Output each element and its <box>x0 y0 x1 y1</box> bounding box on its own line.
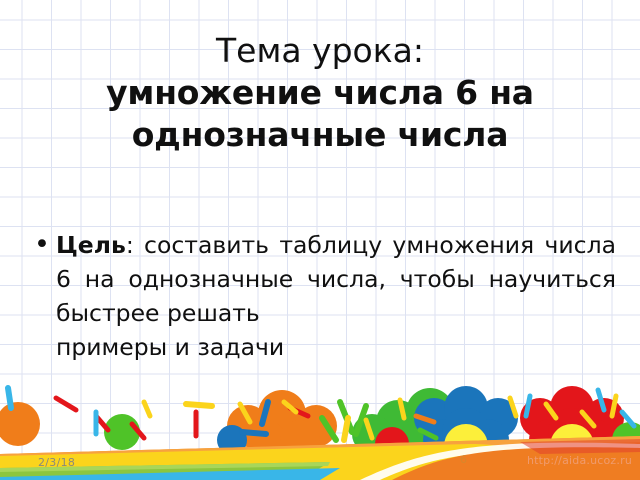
goal-label-separator: : <box>126 231 134 259</box>
bullet-icon: • <box>30 228 56 262</box>
goal-text: составить таблицу умножения числа 6 на о… <box>56 231 616 327</box>
footer-watermark: http://aida.ucoz.ru <box>527 454 632 467</box>
page-title-line-2: умножение числа 6 на однозначные числа <box>26 72 614 158</box>
bullet-paragraph: Цель: составить таблицу умножения числа … <box>56 228 616 364</box>
footer-page-number: 6 <box>460 453 467 466</box>
slide-body: • Цель: составить таблицу умножения числ… <box>30 228 616 364</box>
page-title-line-1: Тема урока: <box>26 30 614 72</box>
goal-text-last-line: примеры и задачи <box>56 330 616 364</box>
footer-date: 2/3/18 <box>38 456 75 469</box>
slide-canvas: Тема урока: умножение числа 6 на однозна… <box>0 0 640 480</box>
list-item: • Цель: составить таблицу умножения числ… <box>30 228 616 364</box>
goal-label: Цель <box>56 231 126 259</box>
slide-title: Тема урока: умножение числа 6 на однозна… <box>26 30 614 157</box>
deco-ball-orange-left <box>0 402 40 446</box>
